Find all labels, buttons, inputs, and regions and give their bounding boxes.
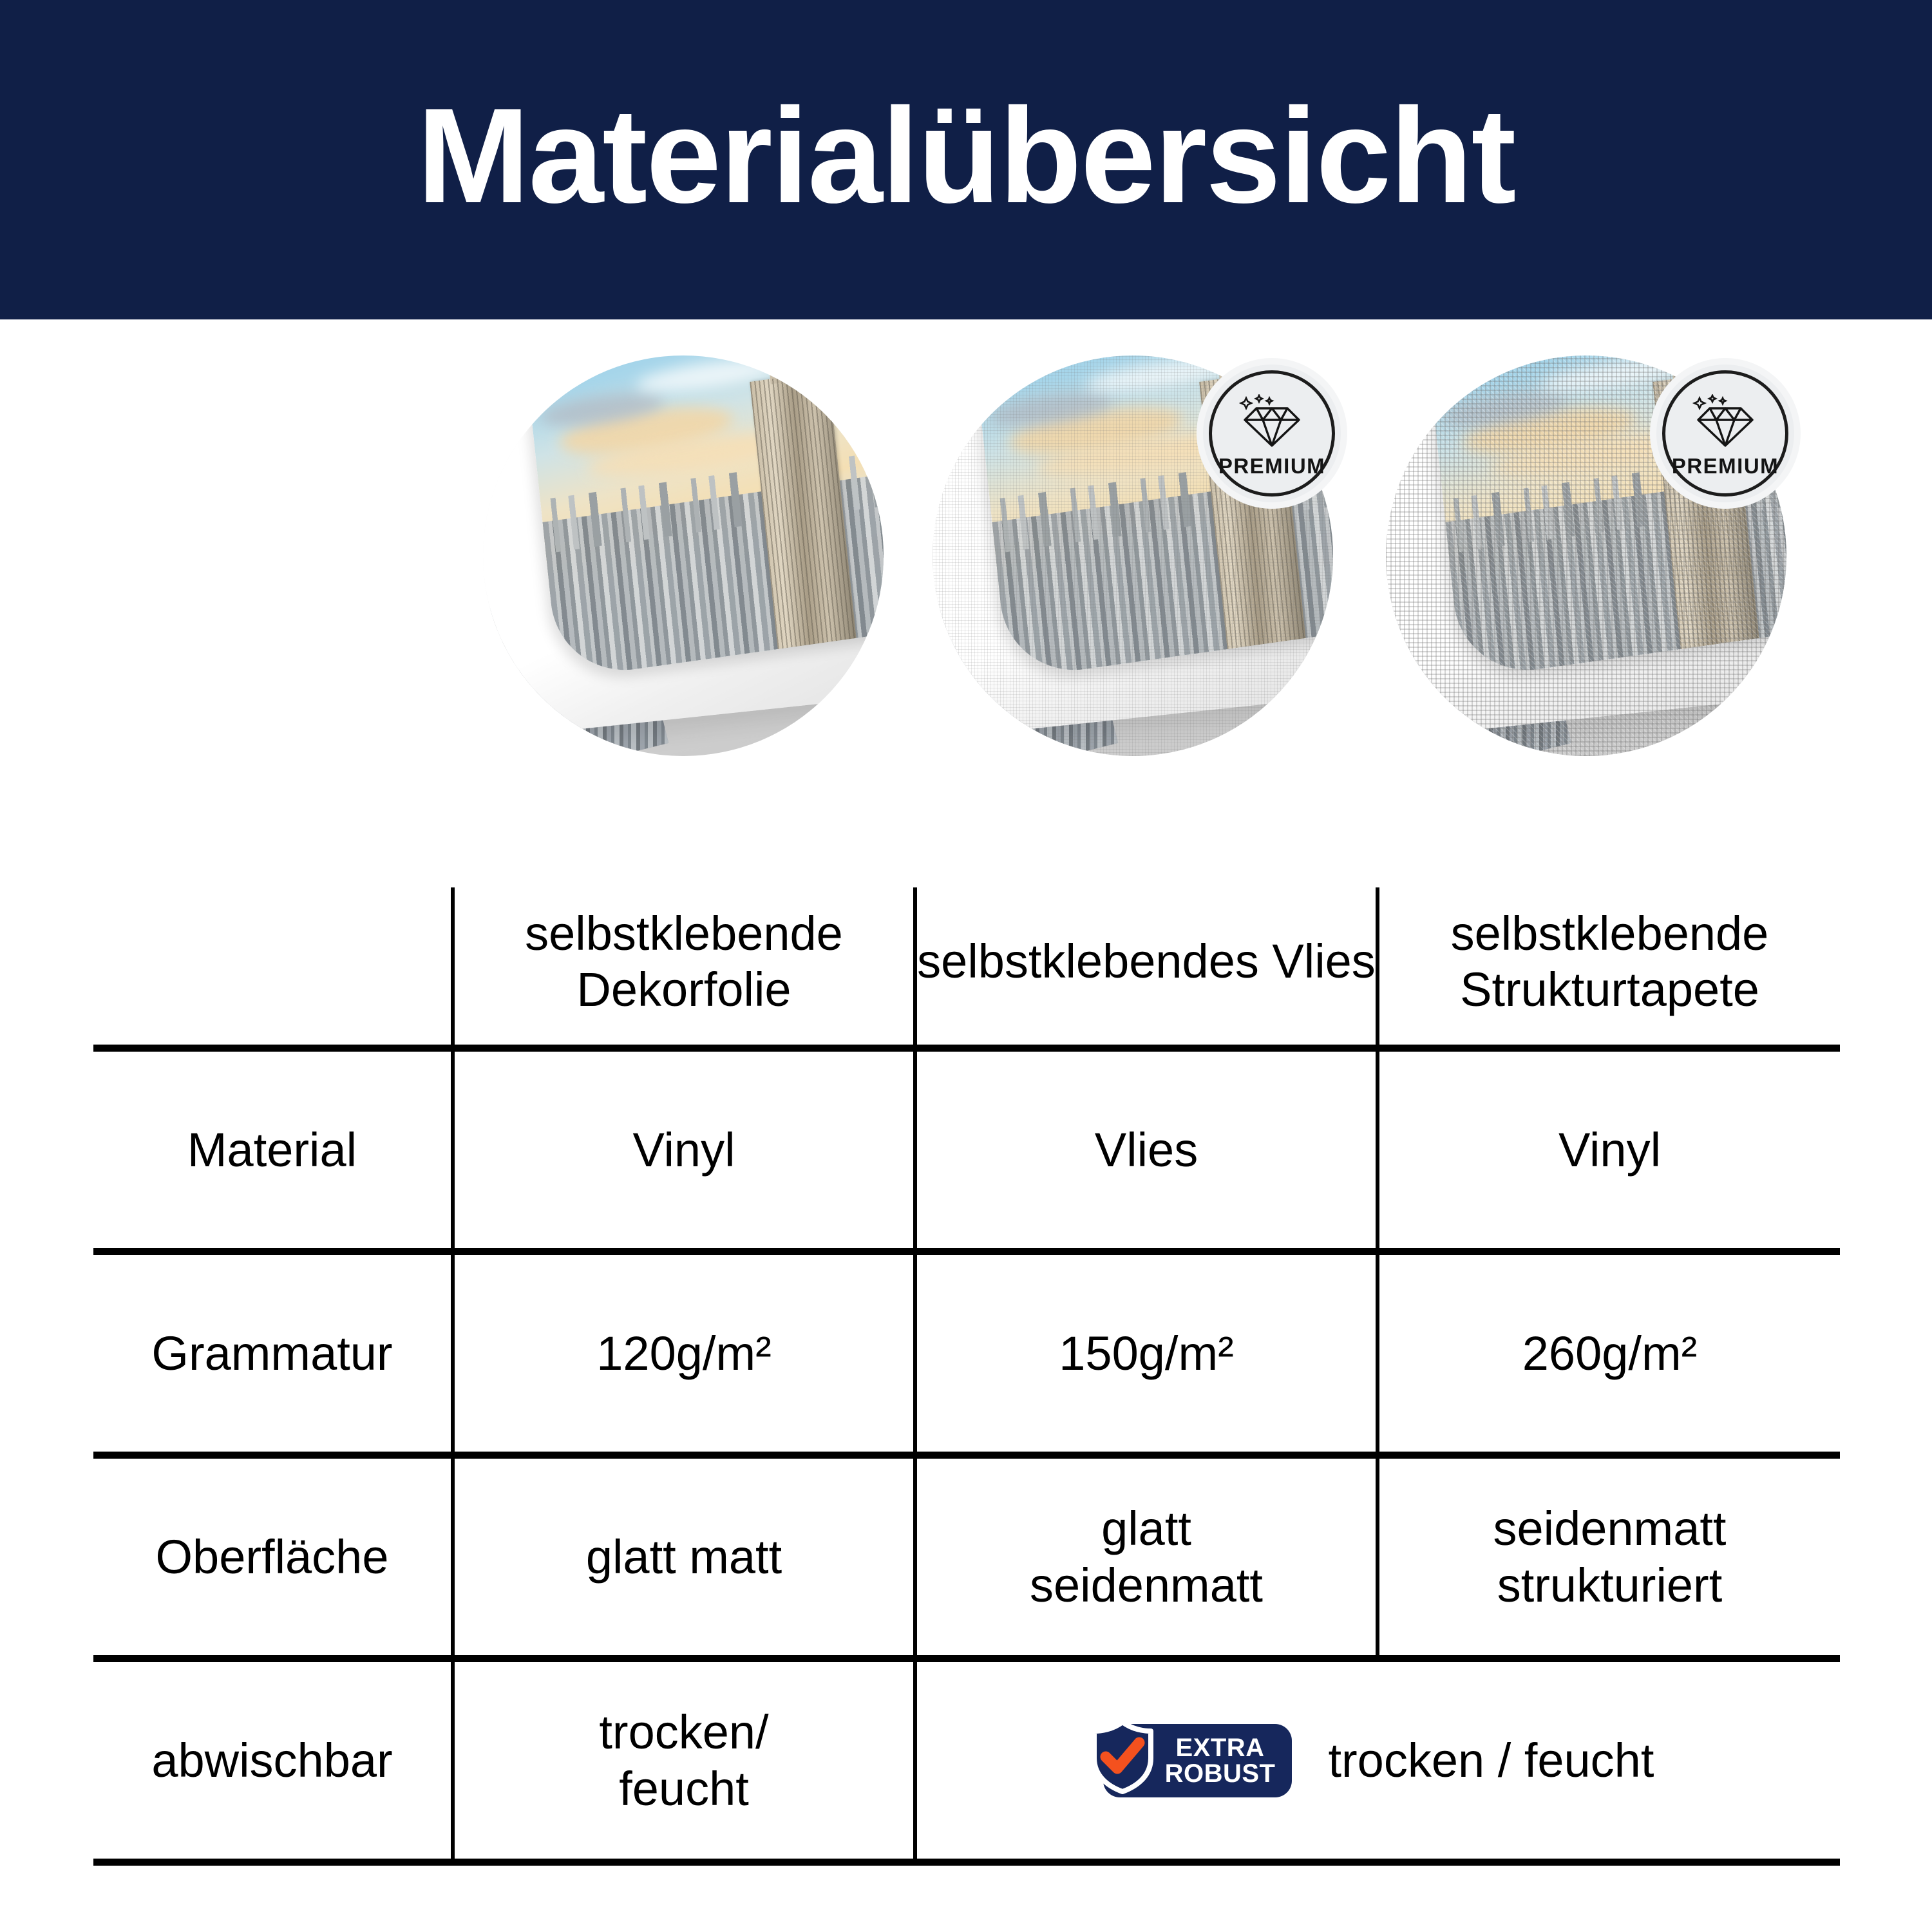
premium-badge-label: PREMIUM <box>1672 454 1779 478</box>
extra-robust-line1: EXTRA <box>1165 1735 1276 1761</box>
table-header-row: selbstklebende Dekorfolie selbstklebende… <box>93 887 1840 1048</box>
cell-grammatur-vlies: 150g/m² <box>915 1252 1378 1455</box>
row-label-oberflaeche: Oberfläche <box>93 1455 453 1659</box>
cell-oberflaeche-strukturtapete: seidenmattstrukturiert <box>1378 1455 1840 1659</box>
cell-grammatur-dekorfolie: 120g/m² <box>453 1252 915 1455</box>
cell-abwischbar-dekorfolie: trocken/feucht <box>453 1659 915 1862</box>
premium-badge-label: PREMIUM <box>1218 454 1325 478</box>
table-row-oberflaeche: Oberfläche glatt matt glattseidenmatt se… <box>93 1455 1840 1659</box>
extra-robust-badge: EXTRA ROBUST <box>1103 1724 1293 1797</box>
row-label-material: Material <box>93 1048 453 1252</box>
product-image-row: PREMIUM <box>0 355 1932 768</box>
page-title: Materialübersicht <box>417 88 1515 223</box>
product-image-strukturtapete[interactable]: PREMIUM <box>1386 355 1786 756</box>
header-banner: Materialübersicht <box>0 0 1932 319</box>
cell-abwischbar-vlies-strukturtapete: EXTRA ROBUST trocken / feucht <box>915 1659 1840 1862</box>
extra-robust-line2: ROBUST <box>1165 1761 1276 1786</box>
product-photo-circle <box>483 355 884 756</box>
table-row-material: Material Vinyl Vlies Vinyl <box>93 1048 1840 1252</box>
cell-material-strukturtapete: Vinyl <box>1378 1048 1840 1252</box>
cell-material-vlies: Vlies <box>915 1048 1378 1252</box>
premium-badge: PREMIUM <box>1203 365 1341 502</box>
skyline-photo <box>523 355 884 680</box>
premium-badge: PREMIUM <box>1656 365 1794 502</box>
cell-oberflaeche-dekorfolie: glatt matt <box>453 1455 915 1659</box>
table-row-grammatur: Grammatur 120g/m² 150g/m² 260g/m² <box>93 1252 1840 1455</box>
column-header-vlies: selbstklebendes Vlies <box>915 887 1378 1048</box>
cell-grammatur-strukturtapete: 260g/m² <box>1378 1252 1840 1455</box>
cell-material-dekorfolie: Vinyl <box>453 1048 915 1252</box>
material-spec-table: selbstklebende Dekorfolie selbstklebende… <box>93 887 1840 1866</box>
column-header-dekorfolie: selbstklebende Dekorfolie <box>453 887 915 1048</box>
column-header-strukturtapete: selbstklebende Strukturtapete <box>1378 887 1840 1048</box>
row-label-abwischbar: abwischbar <box>93 1659 453 1862</box>
shield-check-icon <box>1089 1719 1156 1802</box>
table-row-abwischbar: abwischbar trocken/feucht EXTRA ROBUST <box>93 1659 1840 1862</box>
row-label-grammatur: Grammatur <box>93 1252 453 1455</box>
cell-abwischbar-value: trocken / feucht <box>1328 1732 1654 1788</box>
product-image-vlies[interactable]: PREMIUM <box>933 355 1333 756</box>
product-image-dekorfolie[interactable] <box>483 355 884 756</box>
table-corner-cell <box>93 887 453 1048</box>
cell-oberflaeche-vlies: glattseidenmatt <box>915 1455 1378 1659</box>
